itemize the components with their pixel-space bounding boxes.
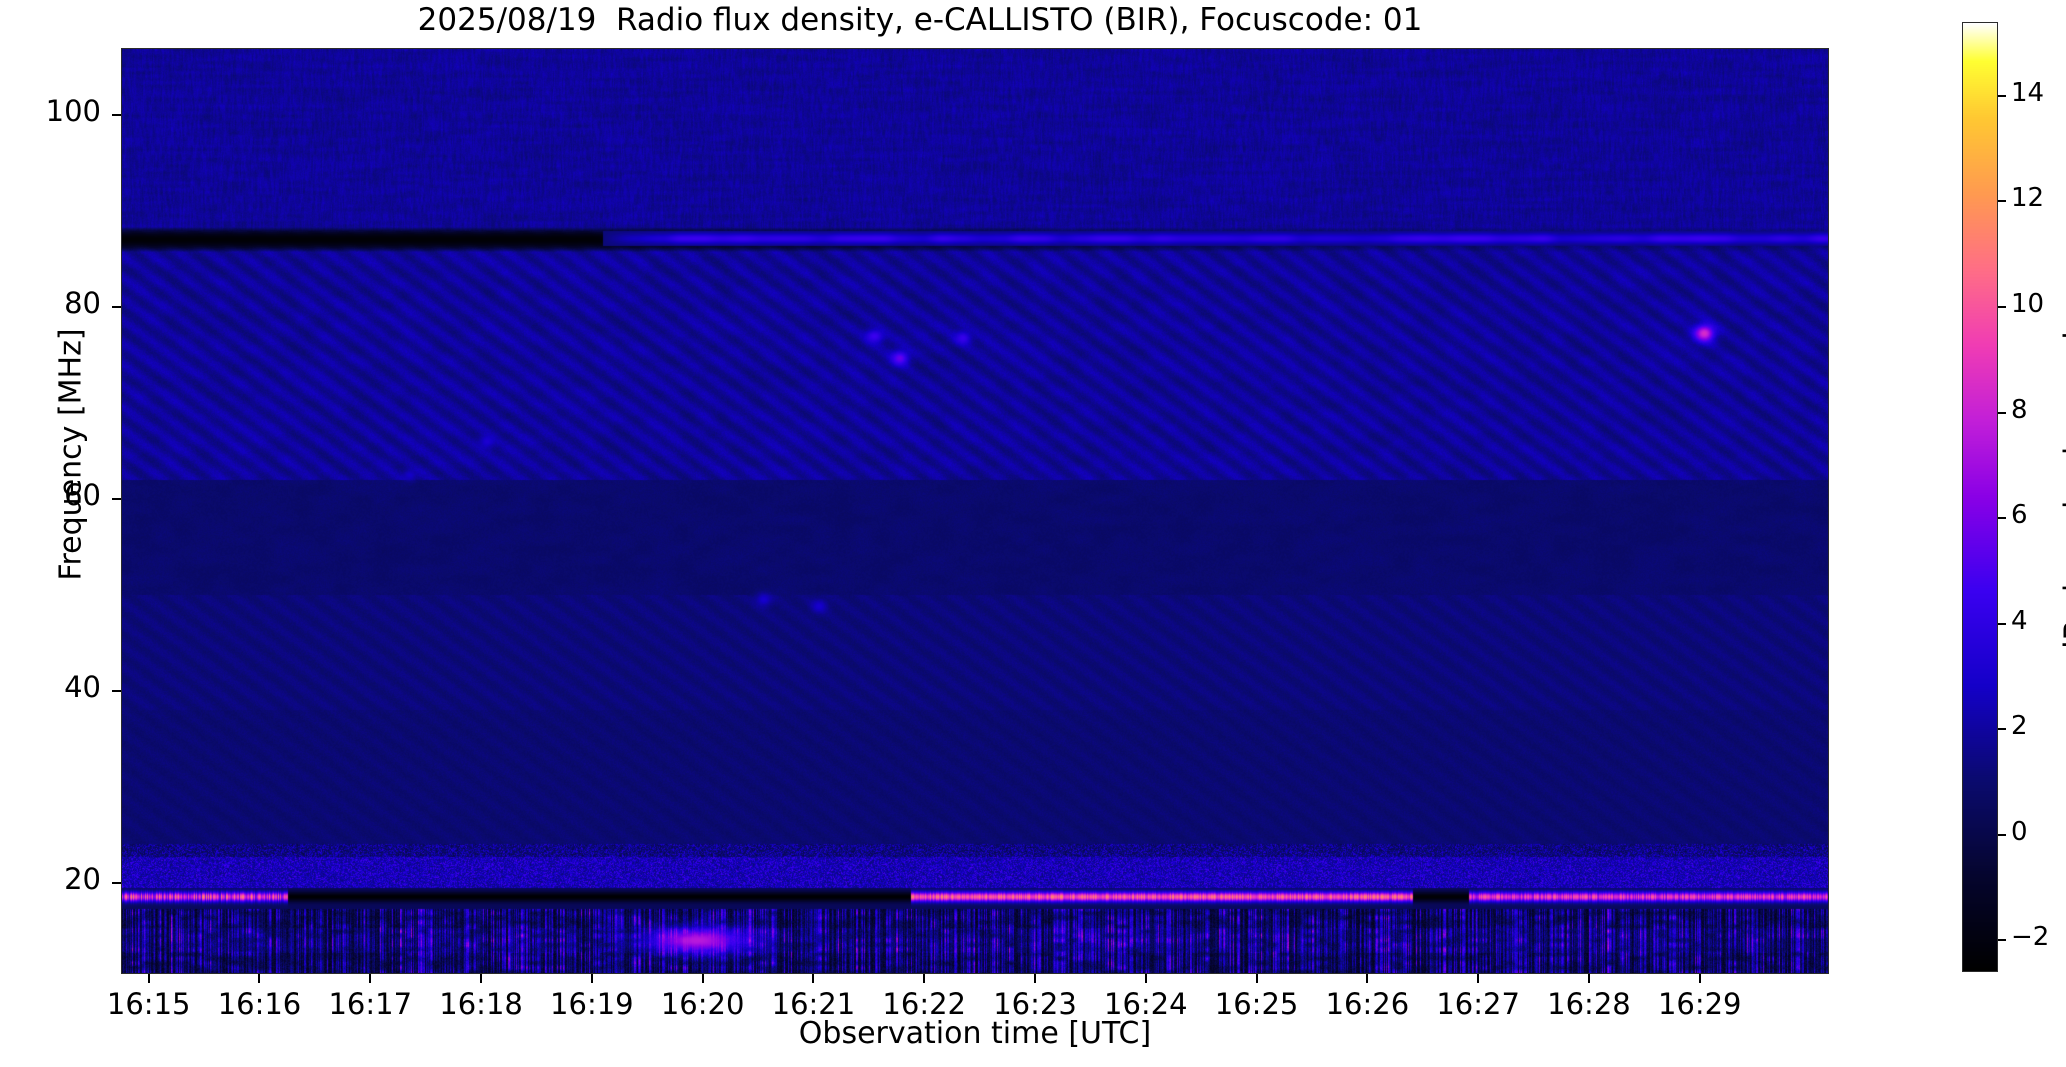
x-tick-mark-16:18	[480, 974, 482, 983]
x-tick-mark-16:21	[812, 974, 814, 983]
x-tick-mark-16:22	[923, 974, 925, 983]
x-tick-mark-16:17	[369, 974, 371, 983]
colorbar-tick-label--2: −2	[2011, 922, 2049, 952]
x-tick-mark-16:23	[1034, 974, 1036, 983]
colorbar-tick-mark-2	[1998, 728, 2006, 730]
spectrogram-image	[122, 49, 1828, 973]
colorbar-tick-mark-4	[1998, 623, 2006, 625]
colorbar-tick-label-2: 2	[2011, 711, 2028, 741]
y-tick-label-80: 80	[0, 286, 101, 320]
colorbar-tick-label-10: 10	[2011, 289, 2044, 319]
colorbar-tick-label-8: 8	[2011, 395, 2028, 425]
x-tick-mark-16:25	[1256, 974, 1258, 983]
x-tick-mark-16:20	[702, 974, 704, 983]
y-tick-mark-40	[112, 690, 121, 692]
colorbar-label: dB above background	[2059, 146, 2066, 846]
colorbar-tick-mark-12	[1998, 200, 2006, 202]
x-tick-mark-16:24	[1145, 974, 1147, 983]
colorbar-tick-mark-6	[1998, 517, 2006, 519]
colorbar-tick-label-4: 4	[2011, 606, 2028, 636]
x-tick-mark-16:19	[591, 974, 593, 983]
x-tick-mark-16:27	[1477, 974, 1479, 983]
y-tick-mark-60	[112, 498, 121, 500]
x-axis-label: Observation time [UTC]	[121, 1016, 1829, 1051]
y-tick-mark-20	[112, 882, 121, 884]
y-tick-mark-80	[112, 306, 121, 308]
colorbar	[1962, 22, 1998, 972]
x-tick-mark-16:28	[1588, 974, 1590, 983]
y-tick-label-40: 40	[0, 670, 101, 704]
colorbar-tick-mark-10	[1998, 306, 2006, 308]
colorbar-tick-mark-8	[1998, 412, 2006, 414]
colorbar-tick-mark-14	[1998, 95, 2006, 97]
x-tick-label-16:29: 16:29	[1620, 987, 1780, 1021]
x-tick-mark-16:16	[258, 974, 260, 983]
colorbar-tick-label-12: 12	[2011, 183, 2044, 213]
y-tick-label-60: 60	[0, 478, 101, 512]
y-axis-label: Frequency [MHz]	[54, 55, 89, 855]
spectrogram-figure: 2025/08/19 Radio flux density, e-CALLIST…	[0, 0, 2066, 1067]
x-tick-mark-16:15	[148, 974, 150, 983]
figure-title: 2025/08/19 Radio flux density, e-CALLIST…	[0, 2, 1840, 38]
colorbar-tick-label-6: 6	[2011, 500, 2028, 530]
x-tick-mark-16:29	[1699, 974, 1701, 983]
spectrogram-axes	[121, 48, 1829, 974]
x-tick-mark-16:26	[1366, 974, 1368, 983]
colorbar-tick-mark-0	[1998, 834, 2006, 836]
colorbar-tick-mark--2	[1998, 939, 2006, 941]
y-tick-label-20: 20	[0, 862, 101, 896]
colorbar-gradient	[1963, 23, 1997, 971]
y-tick-mark-100	[112, 114, 121, 116]
colorbar-tick-label-0: 0	[2011, 817, 2028, 847]
y-tick-label-100: 100	[0, 94, 101, 128]
colorbar-tick-label-14: 14	[2011, 78, 2044, 108]
